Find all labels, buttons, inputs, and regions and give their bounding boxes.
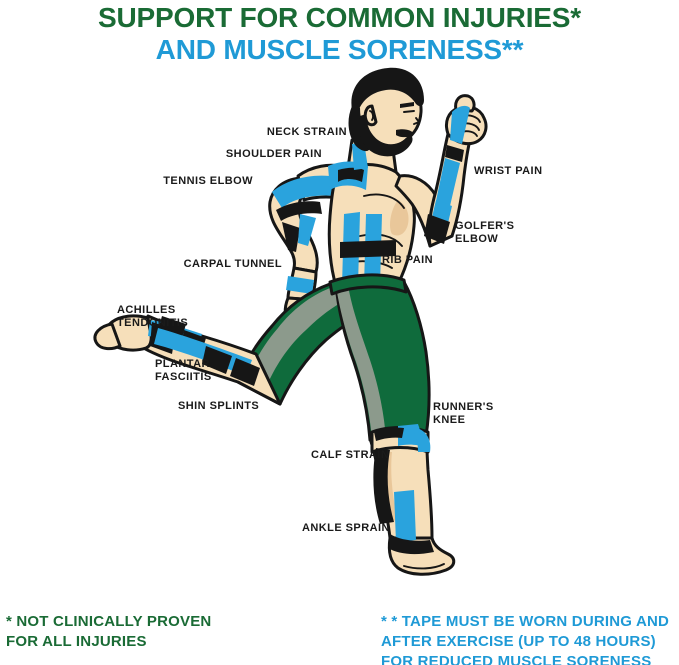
head-group [349,68,424,157]
anatomy-figure-svg: .sk { fill:#f6dfba; stroke:#161616; stro… [0,0,679,665]
label-carpal-tunnel: CARPAL TUNNEL [174,258,282,271]
label-calf-strain: CALF STRAIN [311,449,395,462]
tape-tennis-elbow [272,176,336,252]
poster-root: SUPPORT FOR COMMON INJURIES* AND MUSCLE … [0,0,679,665]
shorts-group [238,275,429,440]
label-plantar-fasciitis: PLANTAR FASCIITIS [155,358,231,384]
label-wrist-pain: WRIST PAIN [474,165,554,178]
label-golfers-elbow: GOLFER'S ELBOW [455,220,525,246]
label-runners-knee: RUNNER'S KNEE [433,401,505,427]
footnote-disclaimer-left: * NOT CLINICALLY PROVEN FOR ALL INJURIES [6,612,211,652]
label-neck-strain: NECK STRAIN [255,126,347,139]
label-rib-pain: RIB PAIN [382,254,452,267]
footnote-disclaimer-right: * * TAPE MUST BE WORN DURING AND AFTER E… [381,612,669,665]
running-man-illustration: .sk { fill:#f6dfba; stroke:#161616; stro… [0,0,679,665]
label-tennis-elbow: TENNIS ELBOW [153,175,253,188]
front-leg-group [370,424,454,574]
label-shoulder-pain: SHOULDER PAIN [216,148,322,161]
label-achilles-tendonitis: ACHILLES TENDONITIS [117,304,207,330]
label-shin-splints: SHIN SPLINTS [178,400,270,413]
label-ankle-sprain: ANKLE SPRAIN [302,522,398,535]
